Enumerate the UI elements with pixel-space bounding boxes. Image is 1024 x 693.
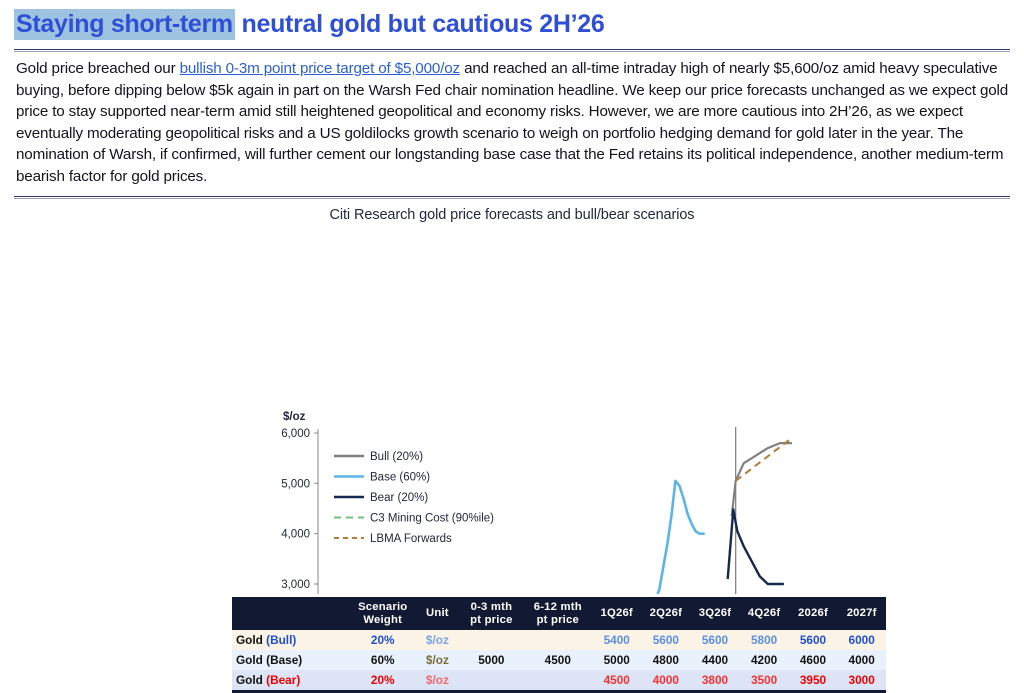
series-bull	[732, 443, 792, 516]
table-cell-unit: $/oz	[415, 650, 459, 670]
table-cell-y27: 4000	[837, 650, 886, 670]
page-title-highlight: Staying short-term	[14, 9, 235, 40]
table-cell-scenario-name: Gold (Bear)	[232, 670, 350, 690]
table-cell-q2: 5600	[641, 630, 690, 650]
y-tick-label: 3,000	[281, 579, 310, 591]
table-col-header-y26: 2026f	[789, 597, 838, 630]
legend-label-0: Bull (20%)	[370, 451, 423, 463]
forecast-table-container: Scenario WeightUnit0-3 mth pt price6-12 …	[232, 597, 886, 693]
body-pre-link: Gold price breached our	[16, 60, 180, 77]
table-header-row: Scenario WeightUnit0-3 mth pt price6-12 …	[232, 597, 886, 630]
table-cell-scenario-name: Gold (Base)	[232, 650, 350, 670]
y-tick-label: 5,000	[281, 478, 310, 490]
table-cell-p612	[523, 630, 592, 650]
table-cell-weight: 20%	[350, 670, 415, 690]
table-col-header-name	[232, 597, 350, 630]
table-cell-q4: 5800	[740, 630, 789, 650]
scenario-type-label: (Bear)	[266, 673, 300, 687]
table-cell-y27: 3000	[837, 670, 886, 690]
table-cell-q3: 4400	[690, 650, 739, 670]
table-col-header-p612: 6-12 mth pt price	[523, 597, 592, 630]
table-cell-p03	[459, 630, 523, 650]
table-cell-unit: $/oz	[415, 670, 459, 690]
table-cell-p612: 4500	[523, 650, 592, 670]
table-cell-q2: 4000	[641, 670, 690, 690]
table-cell-y26: 5600	[789, 630, 838, 650]
legend-label-1: Base (60%)	[370, 472, 430, 484]
table-row: Gold (Base)60%$/oz5000450050004800440042…	[232, 650, 886, 670]
table-cell-weight: 60%	[350, 650, 415, 670]
table-cell-q1: 5400	[592, 630, 641, 650]
table-col-header-q1: 1Q26f	[592, 597, 641, 630]
table-cell-p03	[459, 670, 523, 690]
table-col-header-q4: 4Q26f	[740, 597, 789, 630]
body-paragraph: Gold price breached our bullish 0-3m poi…	[0, 52, 1024, 187]
table-cell-y26: 4600	[789, 650, 838, 670]
table-cell-q4: 3500	[740, 670, 789, 690]
series-lbma-forwards	[736, 438, 792, 481]
table-col-header-weight: Scenario Weight	[350, 597, 415, 630]
table-cell-scenario-name: Gold (Bull)	[232, 630, 350, 650]
y-tick-label: 4,000	[281, 529, 310, 541]
chart-plot-area: 01,0002,0003,0004,0005,0006,0001Q001Q011…	[0, 199, 1024, 594]
table-cell-y26: 3950	[789, 670, 838, 690]
scenario-type-label: (Base)	[266, 653, 302, 667]
table-col-header-q3: 3Q26f	[690, 597, 739, 630]
table-cell-q1: 4500	[592, 670, 641, 690]
y-tick-label: 6,000	[281, 428, 310, 440]
table-cell-unit: $/oz	[415, 630, 459, 650]
legend-label-3: C3 Mining Cost (90%ile)	[370, 513, 494, 525]
table-row: Gold (Bull)20%$/oz5400560056005800560060…	[232, 630, 886, 650]
page-title-rest: neutral gold but cautious 2H’26	[235, 10, 605, 38]
table-cell-q2: 4800	[641, 650, 690, 670]
table-cell-q1: 5000	[592, 650, 641, 670]
page-title: Staying short-term neutral gold but caut…	[0, 0, 1024, 43]
table-col-header-unit: Unit	[415, 597, 459, 630]
forecast-table: Scenario WeightUnit0-3 mth pt price6-12 …	[232, 597, 886, 690]
table-cell-y27: 6000	[837, 630, 886, 650]
scenario-type-label: (Bull)	[266, 633, 296, 647]
legend-label-2: Bear (20%)	[370, 492, 428, 504]
scenario-asset-label: Gold	[236, 653, 266, 667]
legend-label-4: LBMA Forwards	[370, 533, 452, 545]
table-row: Gold (Bear)20%$/oz4500400038003500395030…	[232, 670, 886, 690]
table-cell-q3: 5600	[690, 630, 739, 650]
table-cell-q3: 3800	[690, 670, 739, 690]
table-col-header-p03: 0-3 mth pt price	[459, 597, 523, 630]
table-cell-p612	[523, 670, 592, 690]
chart-svg: 01,0002,0003,0004,0005,0006,0001Q001Q011…	[0, 199, 1024, 594]
chart-container: Citi Research gold price forecasts and b…	[0, 199, 1024, 594]
table-col-header-y27: 2027f	[837, 597, 886, 630]
price-target-link[interactable]: bullish 0-3m point price target of $5,00…	[180, 60, 460, 77]
table-cell-p03: 5000	[459, 650, 523, 670]
table-header: Scenario WeightUnit0-3 mth pt price6-12 …	[232, 597, 886, 630]
table-body: Gold (Bull)20%$/oz5400560056005800560060…	[232, 630, 886, 690]
body-post-link: and reached an all-time intraday high of…	[16, 60, 1008, 185]
table-col-header-q2: 2Q26f	[641, 597, 690, 630]
scenario-asset-label: Gold	[236, 673, 266, 687]
table-cell-weight: 20%	[350, 630, 415, 650]
scenario-asset-label: Gold	[236, 633, 266, 647]
table-cell-q4: 4200	[740, 650, 789, 670]
